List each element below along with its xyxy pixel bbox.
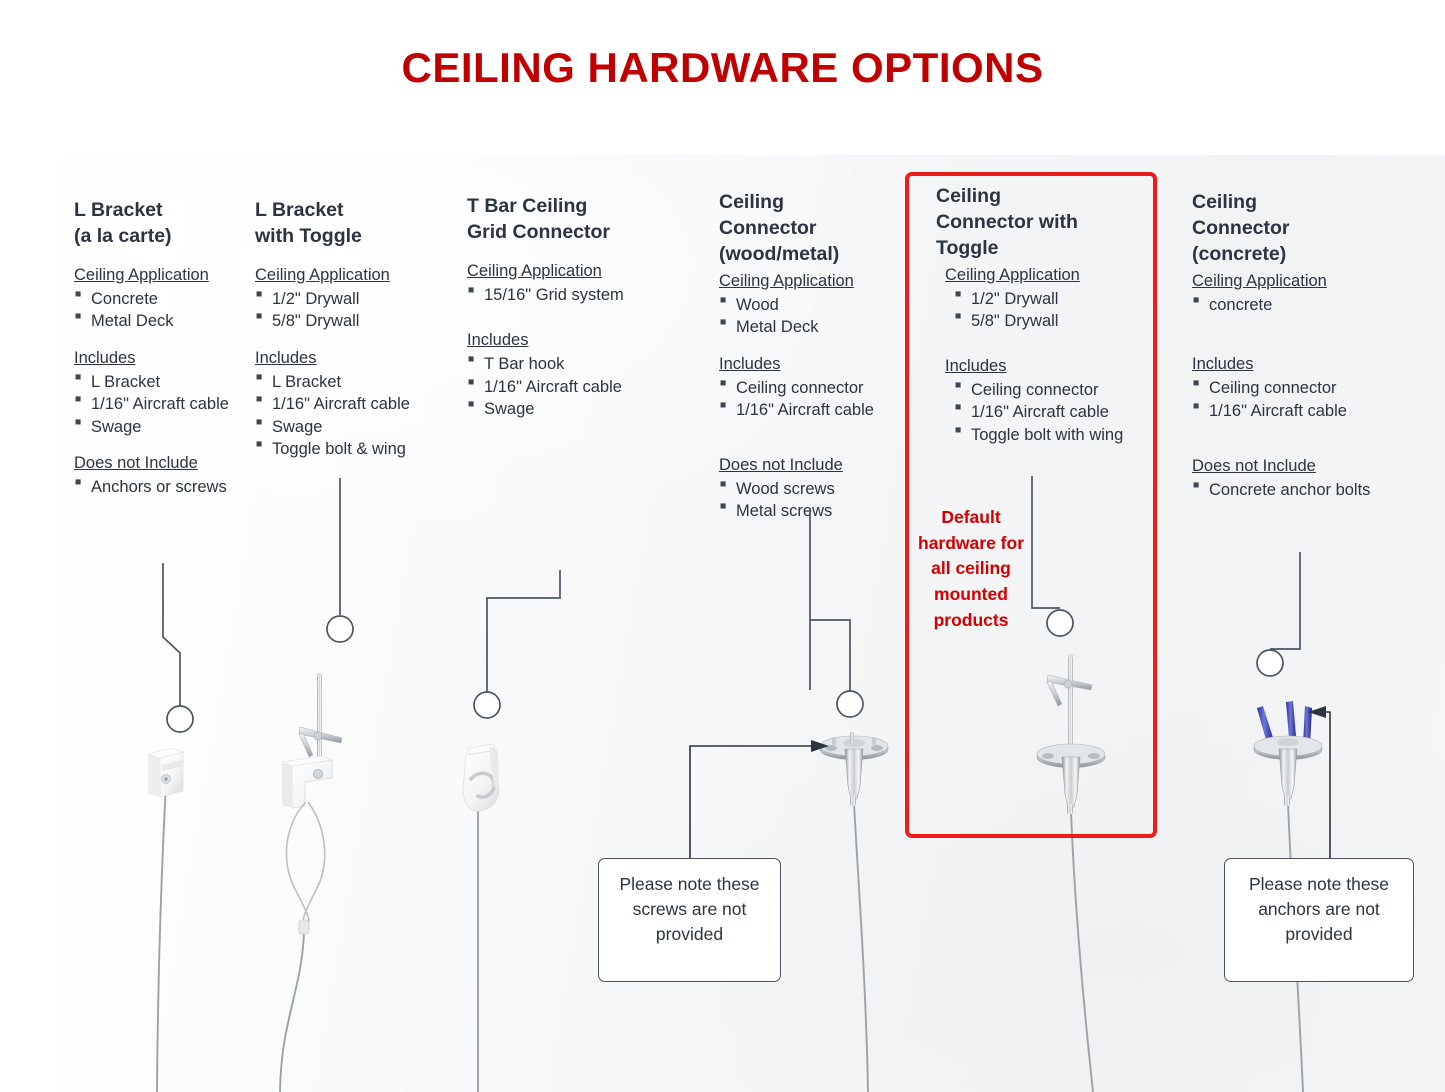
section-includes: Includes Ceiling connector 1/16" Aircraf…: [1192, 353, 1382, 422]
section-heading: Ceiling Application: [467, 260, 667, 283]
section-items: Anchors or screws: [74, 476, 254, 498]
section-ceiling-application: Ceiling Application 15/16" Grid system: [467, 260, 667, 307]
list-item: Anchors or screws: [74, 476, 254, 498]
column-title: Ceiling Connector with Toggle: [936, 184, 1126, 262]
list-item: 15/16" Grid system: [467, 284, 667, 306]
section-items: Concrete Metal Deck: [74, 288, 254, 333]
section-items: Ceiling connector 1/16" Aircraft cable: [1192, 377, 1382, 422]
section-includes: Includes L Bracket 1/16" Aircraft cable …: [255, 347, 445, 461]
note-anchors-not-provided: Please note these anchors are not provid…: [1224, 858, 1414, 982]
list-item: 1/16" Aircraft cable: [74, 393, 254, 415]
photo-left-margin: [0, 155, 60, 1092]
list-item: Wood: [719, 294, 899, 316]
list-item: 1/16" Aircraft cable: [467, 376, 667, 398]
section-heading: Ceiling Application: [719, 270, 899, 293]
section-includes: Includes Ceiling connector 1/16" Aircraf…: [936, 355, 1126, 446]
list-item: Concrete: [74, 288, 254, 310]
list-item: 1/2" Drywall: [954, 288, 1126, 310]
section-includes: Includes L Bracket 1/16" Aircraft cable …: [74, 347, 254, 438]
option-column-t-bar[interactable]: T Bar Ceiling Grid Connector Ceiling App…: [467, 194, 667, 421]
list-item: 1/16" Aircraft cable: [954, 401, 1126, 423]
column-title: L Bracket (a la carte): [74, 198, 254, 250]
list-item: 5/8" Drywall: [954, 310, 1126, 332]
section-heading: Includes: [255, 347, 445, 370]
section-items: 1/2" Drywall 5/8" Drywall: [255, 288, 445, 333]
list-item: Swage: [255, 416, 445, 438]
list-item: Swage: [74, 416, 254, 438]
list-item: L Bracket: [255, 371, 445, 393]
section-items: 15/16" Grid system: [467, 284, 667, 306]
section-heading: Ceiling Application: [255, 264, 445, 287]
section-items: Ceiling connector 1/16" Aircraft cable: [719, 377, 899, 422]
section-items: concrete: [1192, 294, 1382, 316]
section-ceiling-application: Ceiling Application Concrete Metal Deck: [74, 264, 254, 333]
note-screws-not-provided: Please note these screws are not provide…: [598, 858, 781, 982]
option-column-connector-wood-metal[interactable]: Ceiling Connector (wood/metal) Ceiling A…: [719, 190, 899, 523]
list-item: Ceiling connector: [954, 379, 1126, 401]
section-items: L Bracket 1/16" Aircraft cable Swage Tog…: [255, 371, 445, 461]
section-items: 1/2" Drywall 5/8" Drywall: [945, 288, 1126, 333]
section-heading: Ceiling Application: [74, 264, 254, 287]
list-item: Ceiling connector: [1192, 377, 1382, 399]
list-item: Metal Deck: [74, 310, 254, 332]
option-column-l-bracket-toggle[interactable]: L Bracket with Toggle Ceiling Applicatio…: [255, 198, 445, 461]
section-does-not-include: Does not Include Anchors or screws: [74, 452, 254, 499]
section-heading: Includes: [1192, 353, 1382, 376]
section-items: Wood screws Metal screws: [719, 478, 899, 523]
column-title: Ceiling Connector (concrete): [1192, 190, 1382, 268]
section-items: Wood Metal Deck: [719, 294, 899, 339]
option-column-connector-toggle[interactable]: Ceiling Connector with Toggle Ceiling Ap…: [936, 184, 1126, 446]
section-heading: Includes: [719, 353, 899, 376]
section-ceiling-application: Ceiling Application 1/2" Drywall 5/8" Dr…: [936, 264, 1126, 333]
column-title: L Bracket with Toggle: [255, 198, 445, 250]
section-ceiling-application: Ceiling Application 1/2" Drywall 5/8" Dr…: [255, 264, 445, 333]
list-item: 1/2" Drywall: [255, 288, 445, 310]
section-heading: Ceiling Application: [1192, 270, 1382, 293]
section-items: Ceiling connector 1/16" Aircraft cable T…: [945, 379, 1126, 446]
section-heading: Includes: [945, 355, 1126, 378]
list-item: Ceiling connector: [719, 377, 899, 399]
section-heading: Does not Include: [1192, 455, 1382, 478]
list-item: Toggle bolt with wing: [954, 424, 1126, 446]
section-includes: Includes Ceiling connector 1/16" Aircraf…: [719, 353, 899, 422]
list-item: Metal Deck: [719, 316, 899, 338]
list-item: Toggle bolt & wing: [255, 438, 445, 460]
option-column-l-bracket[interactable]: L Bracket (a la carte) Ceiling Applicati…: [74, 198, 254, 499]
section-ceiling-application: Ceiling Application concrete: [1192, 270, 1382, 317]
section-heading: Does not Include: [719, 454, 899, 477]
section-items: Concrete anchor bolts: [1192, 479, 1382, 501]
list-item: 5/8" Drywall: [255, 310, 445, 332]
column-title: Ceiling Connector (wood/metal): [719, 190, 899, 268]
list-item: Swage: [467, 398, 667, 420]
section-heading: Ceiling Application: [945, 264, 1126, 287]
section-heading: Includes: [467, 329, 667, 352]
list-item: 1/16" Aircraft cable: [255, 393, 445, 415]
list-item: 1/16" Aircraft cable: [1192, 400, 1382, 422]
list-item: 1/16" Aircraft cable: [719, 399, 899, 421]
section-heading: Does not Include: [74, 452, 254, 475]
section-ceiling-application: Ceiling Application Wood Metal Deck: [719, 270, 899, 339]
section-items: L Bracket 1/16" Aircraft cable Swage: [74, 371, 254, 438]
list-item: L Bracket: [74, 371, 254, 393]
page-title: CEILING HARDWARE OPTIONS: [0, 44, 1445, 92]
section-heading: Includes: [74, 347, 254, 370]
list-item: Metal screws: [719, 500, 899, 522]
section-items: T Bar hook 1/16" Aircraft cable Swage: [467, 353, 667, 420]
column-title: T Bar Ceiling Grid Connector: [467, 194, 667, 246]
list-item: concrete: [1192, 294, 1382, 316]
list-item: T Bar hook: [467, 353, 667, 375]
section-does-not-include: Does not Include Wood screws Metal screw…: [719, 454, 899, 523]
section-does-not-include: Does not Include Concrete anchor bolts: [1192, 455, 1382, 502]
section-includes: Includes T Bar hook 1/16" Aircraft cable…: [467, 329, 667, 420]
default-hardware-note: Default hardware for all ceiling mounted…: [916, 505, 1026, 634]
list-item: Concrete anchor bolts: [1192, 479, 1382, 501]
list-item: Wood screws: [719, 478, 899, 500]
option-column-connector-concrete[interactable]: Ceiling Connector (concrete) Ceiling App…: [1192, 190, 1382, 502]
